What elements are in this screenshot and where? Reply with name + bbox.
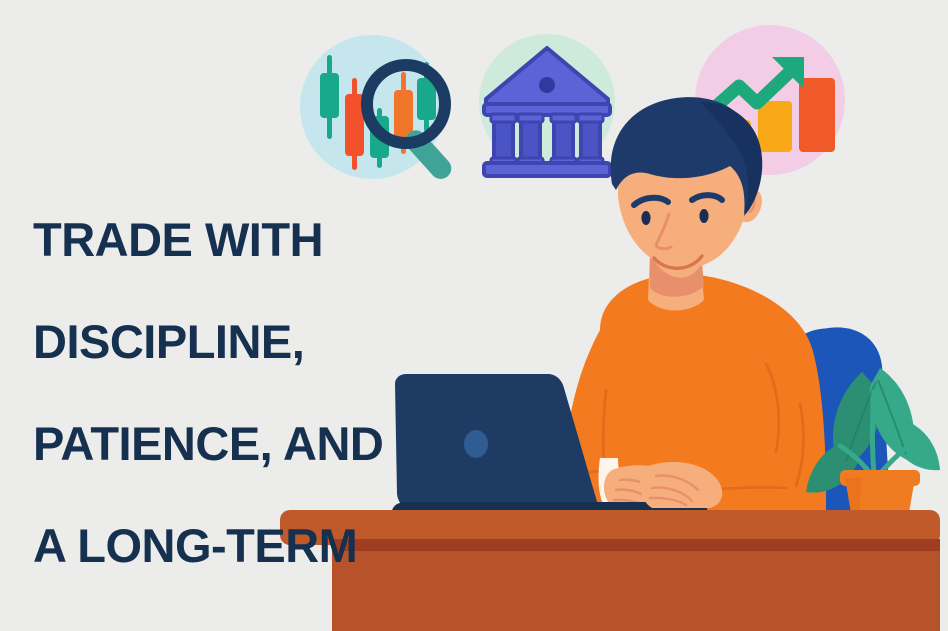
headline-line-4: A LONG-TERM — [33, 520, 433, 571]
poster-canvas: TRADE WITH DISCIPLINE, PATIENCE, AND A L… — [0, 0, 948, 631]
headline-line-1: TRADE WITH — [33, 214, 433, 265]
institution-badge — [479, 34, 615, 176]
page-title: TRADE WITH DISCIPLINE, PATIENCE, AND A L… — [33, 163, 433, 631]
headline-line-2: DISCIPLINE, — [33, 316, 433, 367]
headline-line-5: MINDSET — [33, 622, 433, 631]
headline-line-3: PATIENCE, AND — [33, 418, 433, 469]
laptop-logo — [464, 430, 488, 458]
